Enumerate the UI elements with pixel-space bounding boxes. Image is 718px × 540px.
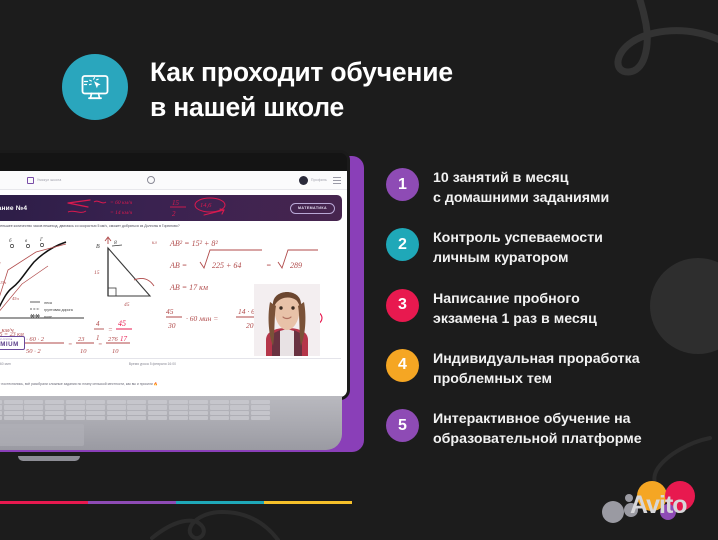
feature-number-badge: 2 bbox=[386, 228, 419, 261]
browser-toolbar: Умскул школа Профиль bbox=[0, 171, 349, 190]
svg-text:10: 10 bbox=[80, 348, 87, 355]
lesson-meta-row: Длительность 60 мин Время урока 5 феврал… bbox=[0, 358, 341, 366]
svg-text:б: б bbox=[9, 239, 12, 244]
laptop-mockup: Умскул школа Профиль Задание №4 bbox=[0, 150, 382, 460]
premium-badge: МАСТЕР-ГРУППА PREMIUM bbox=[0, 336, 25, 350]
list-item: 1 10 занятий в месяц с домашними задания… bbox=[386, 166, 706, 208]
bar-segment-red bbox=[0, 501, 88, 505]
brand-logo[interactable]: Умскул школа bbox=[27, 177, 61, 184]
svg-text:= 60 км/ч: = 60 км/ч bbox=[110, 200, 133, 206]
svg-text:AB = 17 км: AB = 17 км bbox=[169, 283, 208, 292]
feature-label: Индивидуальная проработка проблемных тем bbox=[433, 347, 640, 389]
laptop-screen: Умскул школа Профиль Задание №4 bbox=[0, 171, 349, 399]
keyboard-row bbox=[0, 405, 270, 409]
swirl-decoration-top-right bbox=[592, 0, 718, 126]
avatar bbox=[299, 176, 308, 185]
bottom-color-bar bbox=[0, 501, 352, 505]
user-profile[interactable]: Профиль bbox=[299, 176, 327, 185]
svg-text:15: 15 bbox=[94, 270, 100, 276]
svg-text:14,6: 14,6 bbox=[200, 202, 212, 209]
laptop-base-notch bbox=[18, 456, 80, 461]
svg-text:45: 45 bbox=[166, 307, 174, 316]
premium-badge-main: PREMIUM bbox=[0, 341, 19, 348]
svg-text:Г: Г bbox=[39, 238, 43, 243]
lesson-note: В гостях мы не постеснялись, всё разобра… bbox=[0, 382, 267, 387]
svg-text:=: = bbox=[266, 261, 271, 270]
brand-mark-icon bbox=[27, 177, 34, 184]
svg-text:15: 15 bbox=[172, 199, 180, 207]
keyboard-row bbox=[0, 416, 270, 420]
bar-segment-cyan bbox=[176, 501, 264, 505]
feature-label: Написание пробного экзамена 1 раз в меся… bbox=[433, 287, 597, 329]
bar-segment-purple bbox=[88, 501, 176, 505]
svg-text:поле: поле bbox=[44, 315, 52, 319]
svg-text:289: 289 bbox=[290, 261, 302, 270]
search-icon[interactable] bbox=[147, 176, 155, 184]
svg-text:23: 23 bbox=[78, 336, 85, 343]
svg-text:грунтовая дорога: грунтовая дорога bbox=[44, 308, 73, 312]
svg-text:леса: леса bbox=[44, 301, 52, 305]
svg-text:V = 30 км/ч: V = 30 км/ч bbox=[0, 327, 14, 334]
brand-label: Умскул школа bbox=[37, 178, 61, 182]
keyboard-row bbox=[0, 411, 270, 415]
svg-text:B: B bbox=[96, 244, 100, 250]
lesson-duration: Длительность 60 мин bbox=[0, 362, 11, 366]
task-title: Задание №4 bbox=[0, 205, 27, 212]
svg-text:10: 10 bbox=[112, 348, 119, 355]
keyboard-row bbox=[0, 400, 270, 404]
page-title: Как проходит обучение в нашей школе bbox=[150, 50, 453, 125]
logo-circle-gray-large bbox=[602, 501, 624, 523]
list-item: 2 Контроль успеваемости личным куратором bbox=[386, 226, 706, 268]
svg-text:225 + 64: 225 + 64 bbox=[212, 261, 241, 270]
svg-text:15ч: 15ч bbox=[0, 280, 6, 285]
svg-text:276: 276 bbox=[108, 336, 119, 343]
feature-label: Интерактивное обучение на образовательно… bbox=[433, 407, 642, 449]
subject-badge: МАТЕМАТИКА bbox=[290, 203, 335, 214]
avito-logo: Avito bbox=[600, 480, 704, 526]
laptop-trackpad bbox=[0, 424, 84, 446]
svg-text:AB =: AB = bbox=[169, 261, 187, 270]
feature-list: 1 10 занятий в месяц с домашними задания… bbox=[386, 166, 706, 450]
svg-text:кл: кл bbox=[152, 241, 157, 246]
promo-slide: Как проходит обучение в нашей школе 1 10… bbox=[0, 0, 718, 540]
user-label: Профиль bbox=[311, 178, 327, 182]
svg-text:50 · 2: 50 · 2 bbox=[26, 348, 41, 355]
list-item: 3 Написание пробного экзамена 1 раз в ме… bbox=[386, 287, 706, 329]
svg-text:8: 8 bbox=[114, 240, 117, 246]
monitor-cursor-icon bbox=[77, 69, 113, 105]
svg-text:45ч: 45ч bbox=[12, 296, 20, 301]
feature-number-badge: 5 bbox=[386, 409, 419, 442]
swirl-decoration-bottom bbox=[150, 480, 280, 540]
svg-text:в: в bbox=[25, 239, 28, 244]
svg-text:45: 45 bbox=[124, 301, 130, 308]
task-question-text: За какое наименьшее количество часов пеш… bbox=[0, 224, 341, 228]
lesson-whiteboard: A б в Г в 15ч 45ч леса грунтовая дорога bbox=[0, 230, 342, 356]
avito-wordmark: Avito bbox=[630, 491, 687, 520]
laptop-keyboard bbox=[0, 400, 276, 420]
svg-text:= 14 км/ч: = 14 км/ч bbox=[110, 209, 133, 216]
task-banner: Задание №4 = 60 км/ч = 14 км/ч 15 2 14,6 bbox=[0, 195, 342, 221]
feature-label: Контроль успеваемости личным куратором bbox=[433, 226, 603, 268]
svg-text:· 60 мин =: · 60 мин = bbox=[186, 314, 218, 323]
student-video-thumbnail[interactable] bbox=[254, 284, 320, 356]
bar-segment-yellow bbox=[264, 501, 352, 505]
slide-header: Как проходит обучение в нашей школе bbox=[62, 50, 453, 125]
header-icon-badge bbox=[62, 54, 128, 120]
list-item: 5 Интерактивное обучение на образователь… bbox=[386, 407, 706, 449]
svg-text:2: 2 bbox=[172, 210, 176, 218]
feature-number-badge: 3 bbox=[386, 289, 419, 322]
laptop-base bbox=[0, 396, 356, 458]
feature-label: 10 занятий в месяц с домашними заданиями bbox=[433, 166, 609, 208]
handwritten-math-bottom: V = 30 км/ч t мин = 23 · 60 · 2 50 · 2 =… bbox=[0, 322, 178, 356]
feature-number-badge: 1 bbox=[386, 168, 419, 201]
svg-text:=: = bbox=[98, 341, 102, 348]
lesson-time: Время урока 5 февраля 16:00 bbox=[129, 362, 176, 366]
feature-number-badge: 4 bbox=[386, 349, 419, 382]
svg-text:AB² = 15² + 8²: AB² = 15² + 8² bbox=[169, 239, 218, 248]
list-item: 4 Индивидуальная проработка проблемных т… bbox=[386, 347, 706, 389]
hamburger-menu-icon[interactable] bbox=[333, 177, 341, 184]
svg-text:20: 20 bbox=[246, 321, 254, 330]
banner-handwriting-decoration: = 60 км/ч = 14 км/ч 15 2 14,6 bbox=[64, 197, 254, 219]
laptop-lid: Умскул школа Профиль Задание №4 bbox=[0, 150, 350, 400]
svg-text:=: = bbox=[68, 341, 72, 348]
